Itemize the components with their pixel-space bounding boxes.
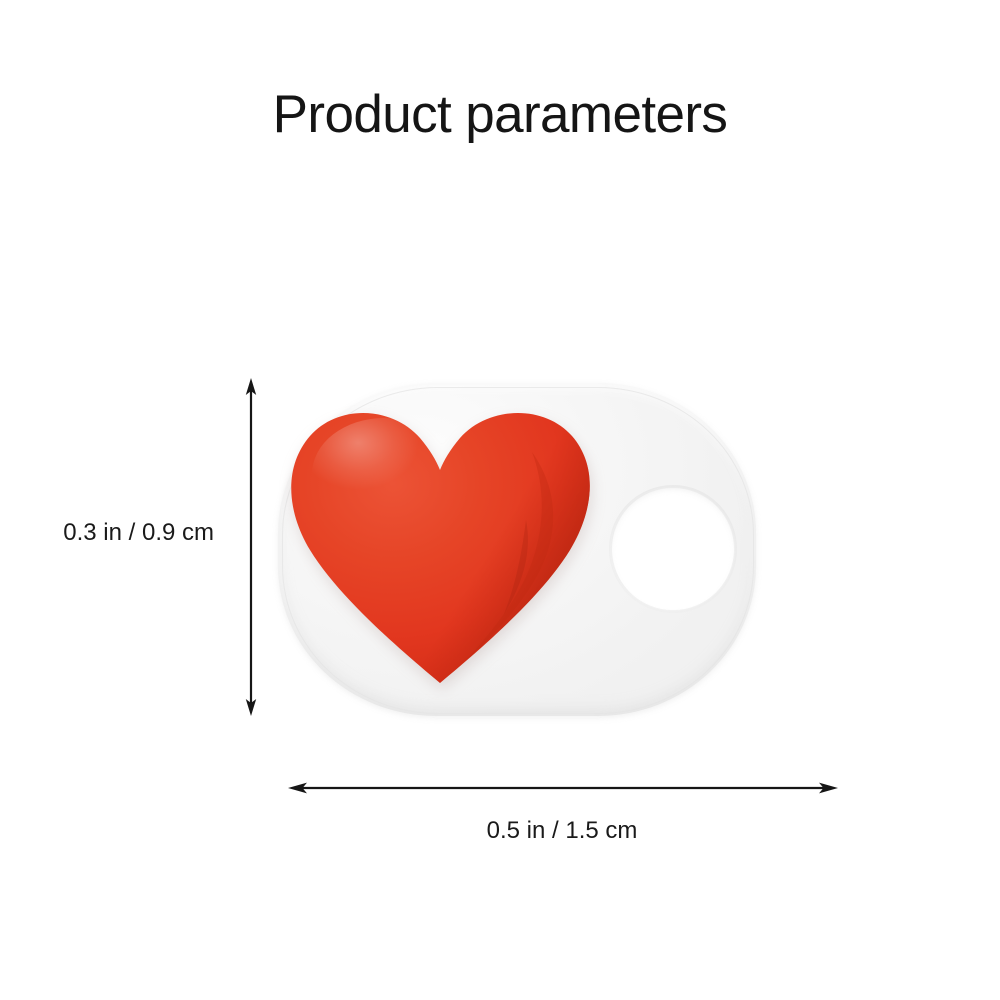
width-dimension-label: 0.5 in / 1.5 cm [288,816,836,846]
product-image [262,370,772,730]
product-parameters-page: Product parameters [0,0,1000,1000]
height-dimension-label: 0.3 in / 0.9 cm [0,518,228,548]
width-dimension-arrow [288,779,838,797]
camera-lens-hole [612,488,734,610]
height-dimension-arrow [243,378,259,716]
heart-icon [280,400,600,690]
page-title: Product parameters [0,84,1000,146]
